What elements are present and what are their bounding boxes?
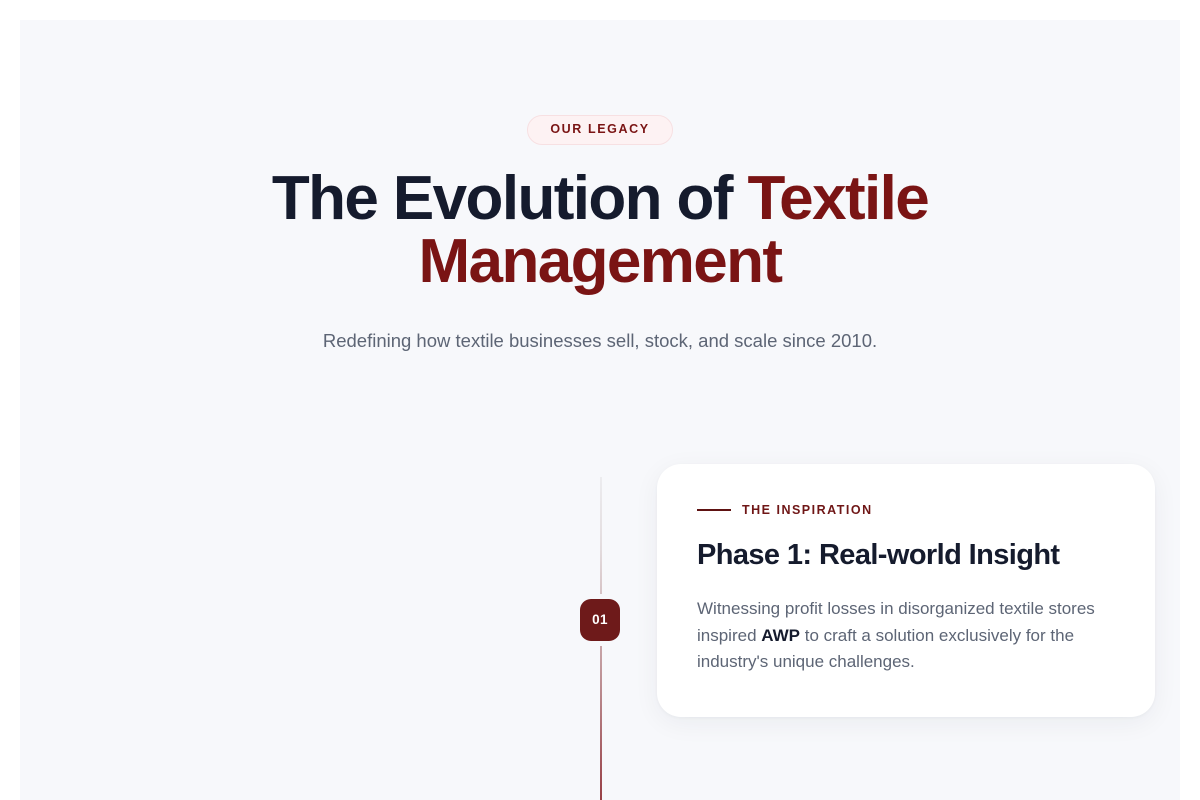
card-body: Witnessing profit losses in disorganized…	[697, 596, 1115, 675]
kicker-rule-icon	[697, 509, 731, 511]
page-title: The Evolution of Textile Management	[190, 167, 1010, 293]
card-title: Phase 1: Real-world Insight	[697, 538, 1115, 574]
eyebrow-badge: OUR LEGACY	[527, 115, 672, 145]
page-subtitle: Redefining how textile businesses sell, …	[20, 327, 1180, 355]
card-kicker-label: THE INSPIRATION	[742, 504, 873, 517]
hero-section: OUR LEGACY The Evolution of Textile Mana…	[20, 20, 1180, 355]
timeline-node-01[interactable]: 01	[580, 599, 620, 641]
card-body-emphasis: AWP	[761, 626, 800, 645]
page-root: OUR LEGACY The Evolution of Textile Mana…	[20, 20, 1180, 800]
page-title-lead: The Evolution of	[272, 164, 748, 233]
timeline-section: 01 THE INSPIRATION Phase 1: Real-world I…	[20, 477, 1180, 800]
phase-card-01[interactable]: THE INSPIRATION Phase 1: Real-world Insi…	[657, 464, 1155, 717]
card-kicker: THE INSPIRATION	[697, 504, 1115, 517]
